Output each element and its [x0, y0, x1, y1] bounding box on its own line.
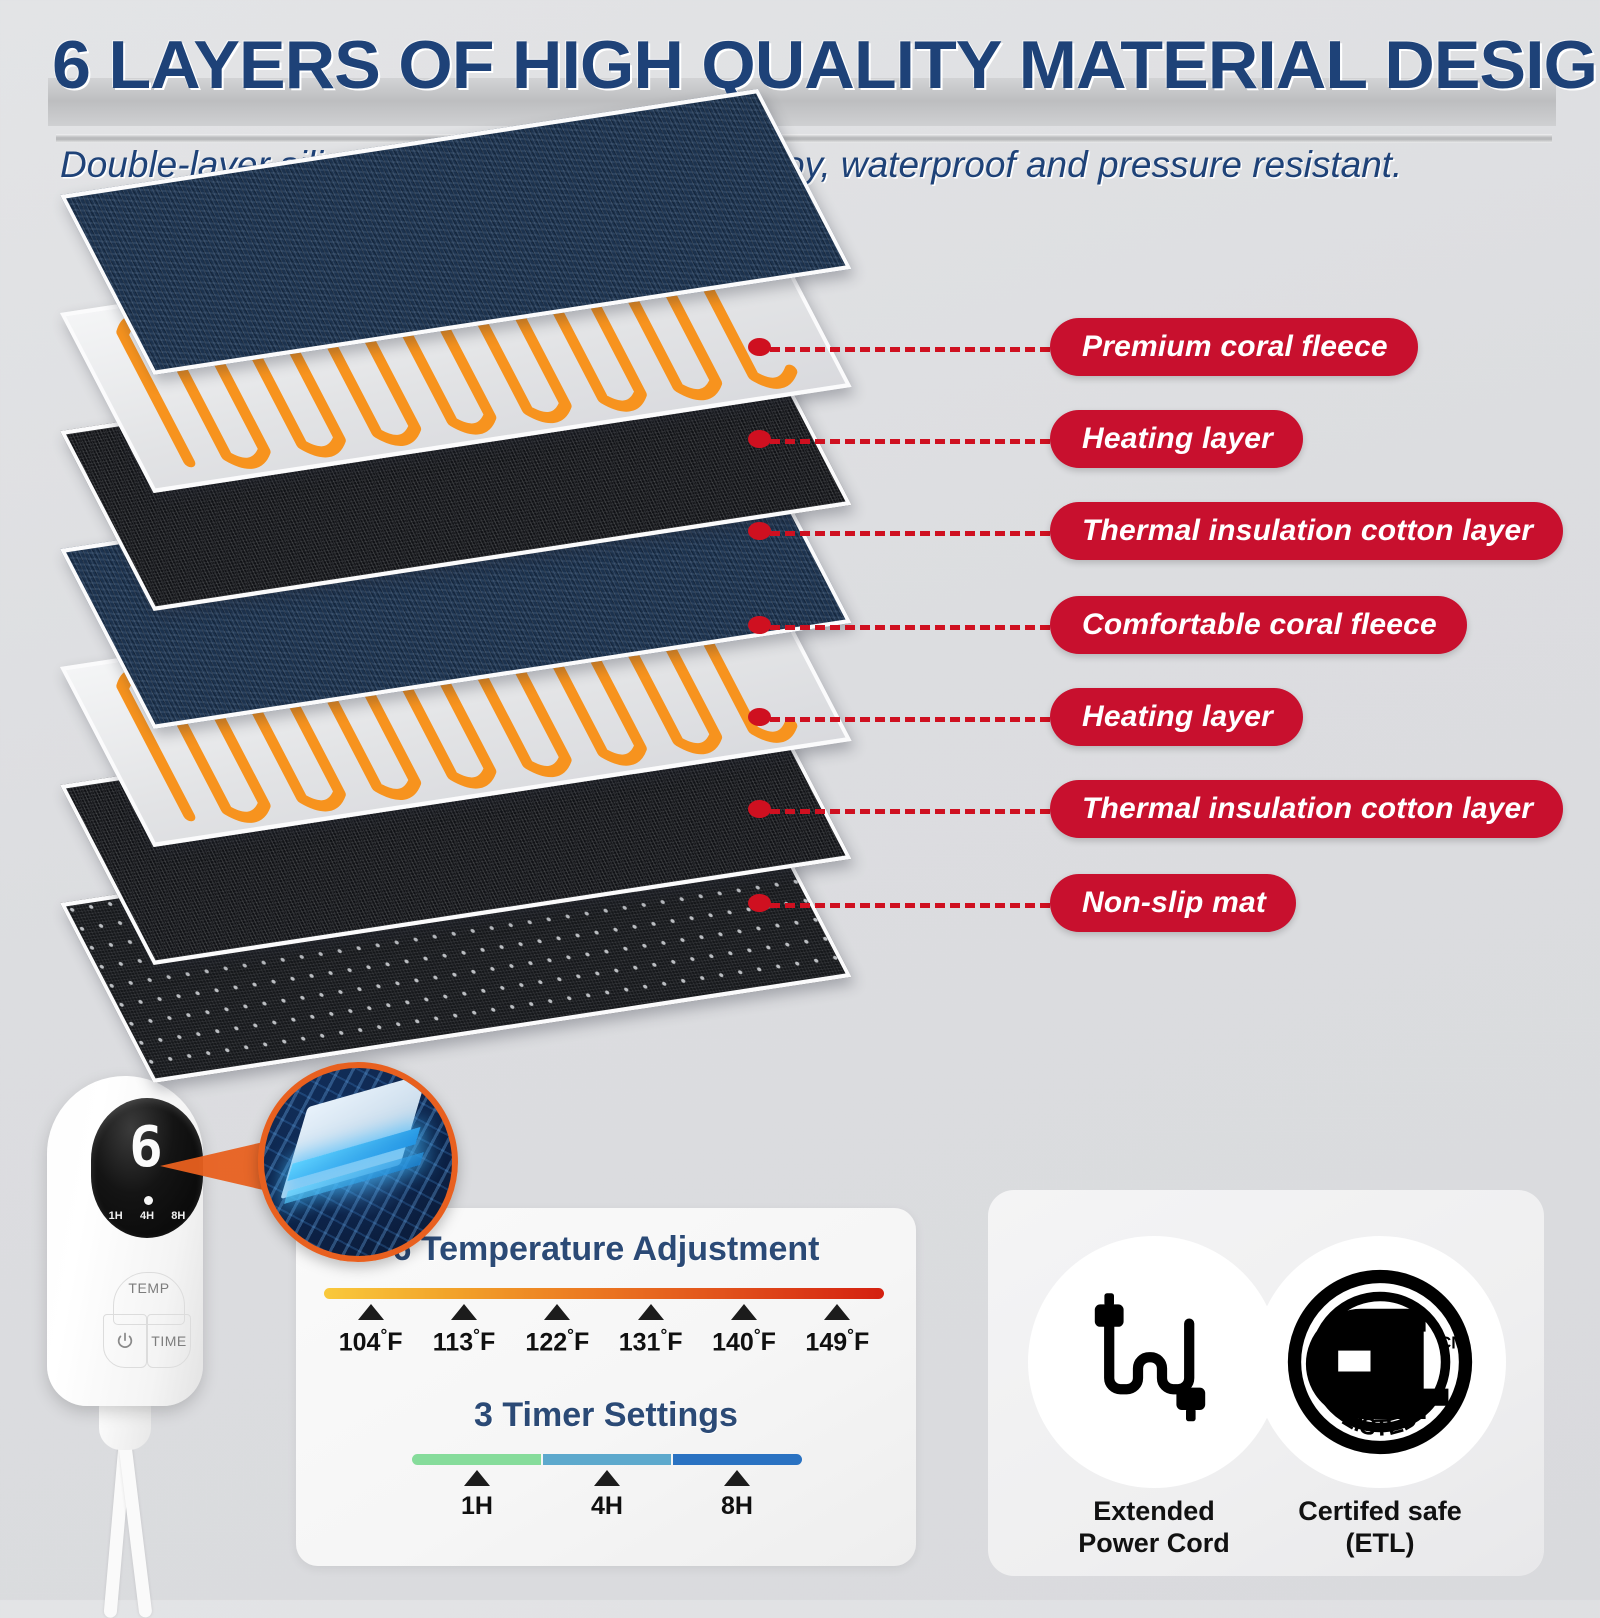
settings-panel: 6 Temperature Adjustment 104°F113°F122°F…	[296, 1208, 916, 1566]
power-cord-caption-line2: Power Cord	[1028, 1528, 1280, 1560]
temperature-number: 104	[339, 1328, 381, 1356]
layer-label-1[interactable]: Premium coral fleece	[1050, 318, 1418, 376]
power-icon	[115, 1331, 135, 1351]
timer-segment-3	[673, 1454, 802, 1465]
temperature-value-3: 122°F	[525, 1326, 589, 1357]
callout-leader-3	[770, 531, 1050, 536]
temperature-number: 140	[712, 1328, 754, 1356]
callout-leader-7	[770, 903, 1050, 908]
layer-label-text: Premium coral fleece	[1082, 330, 1388, 364]
power-cord-badge	[1028, 1236, 1280, 1488]
timer-segment-bar	[412, 1454, 802, 1465]
page-title: 6 LAYERS OF HIGH QUALITY MATERIAL DESIGN	[52, 26, 1600, 104]
callout-dot-1	[748, 338, 771, 356]
temperature-value-6: 149°F	[805, 1326, 869, 1357]
timer-tick-marker-2	[594, 1470, 620, 1486]
temperature-tick-marker-1	[358, 1304, 384, 1320]
layer-label-3[interactable]: Thermal insulation cotton layer	[1050, 502, 1563, 560]
temperature-value-5: 140°F	[712, 1326, 776, 1357]
temperature-unit: °F	[660, 1328, 682, 1356]
power-cord-icon	[1074, 1282, 1234, 1442]
temperature-tick-marker-5	[731, 1304, 757, 1320]
callout-dot-6	[748, 800, 771, 818]
etl-caption-line2: (ETL)	[1254, 1528, 1506, 1560]
etl-badge: CM LISTED	[1254, 1236, 1506, 1488]
layer-label-2[interactable]: Heating layer	[1050, 410, 1303, 468]
certification-panel: Extended Power Cord CM LISTED Certifed s…	[988, 1190, 1544, 1576]
timer-value-3: 8H	[721, 1492, 753, 1521]
timer-heading: 3 Timer Settings	[296, 1396, 916, 1435]
layer-label-5[interactable]: Heating layer	[1050, 688, 1303, 746]
layer-label-text: Non-slip mat	[1082, 886, 1266, 920]
callout-leader-1	[770, 347, 1050, 352]
power-cord-caption: Extended Power Cord	[1028, 1496, 1280, 1560]
temperature-number: 131	[619, 1328, 661, 1356]
temperature-unit: °F	[754, 1328, 776, 1356]
display-timer-1h: 1H	[109, 1210, 123, 1222]
etl-caption: Certifed safe (ETL)	[1254, 1496, 1506, 1560]
layer-label-text: Heating layer	[1082, 700, 1273, 734]
layer-label-4[interactable]: Comfortable coral fleece	[1050, 596, 1467, 654]
temperature-unit: °F	[567, 1328, 589, 1356]
timer-value-2: 4H	[591, 1492, 623, 1521]
temperature-unit: °F	[473, 1328, 495, 1356]
timer-segment-2	[543, 1454, 672, 1465]
temperature-value-1: 104°F	[339, 1326, 403, 1357]
power-button[interactable]	[103, 1314, 147, 1368]
temperature-tick-marker-3	[544, 1304, 570, 1320]
temperature-unit: °F	[847, 1328, 869, 1356]
callout-dot-3	[748, 522, 771, 540]
title-divider-rule	[56, 134, 1552, 143]
display-timer-8h: 8H	[171, 1210, 185, 1222]
temperature-value-4: 131°F	[619, 1326, 683, 1357]
timer-indicator-led	[144, 1196, 153, 1205]
zoom-pointer-arrow	[160, 1140, 272, 1192]
display-timer-labels: 1H 4H 8H	[91, 1210, 203, 1222]
timer-tick-marker-3	[724, 1470, 750, 1486]
callout-dot-5	[748, 708, 771, 726]
display-timer-4h: 4H	[140, 1210, 154, 1222]
layer-label-text: Comfortable coral fleece	[1082, 608, 1437, 642]
callout-dot-2	[748, 430, 771, 448]
layer-label-7[interactable]: Non-slip mat	[1050, 874, 1296, 932]
layer-label-6[interactable]: Thermal insulation cotton layer	[1050, 780, 1563, 838]
power-cord-caption-line1: Extended	[1028, 1496, 1280, 1528]
timer-tick-marker-1	[464, 1470, 490, 1486]
callout-leader-6	[770, 809, 1050, 814]
callout-leader-4	[770, 625, 1050, 630]
timer-value-1: 1H	[461, 1492, 493, 1521]
temperature-value-2: 113°F	[433, 1326, 495, 1357]
temperature-number: 149	[805, 1328, 847, 1356]
layer-label-text: Thermal insulation cotton layer	[1082, 514, 1533, 548]
etl-cm-superscript: CM	[1439, 1334, 1466, 1353]
temperature-number: 113	[433, 1328, 473, 1356]
temperature-tick-marker-4	[638, 1304, 664, 1320]
callout-dot-4	[748, 616, 771, 634]
layer-label-text: Thermal insulation cotton layer	[1082, 792, 1533, 826]
time-button[interactable]: TIME	[147, 1314, 191, 1368]
callout-leader-5	[770, 717, 1050, 722]
material-closeup-inset	[258, 1062, 458, 1262]
timer-segment-1	[412, 1454, 541, 1465]
layer-label-text: Heating layer	[1082, 422, 1273, 456]
callout-leader-2	[770, 439, 1050, 444]
temperature-tick-marker-6	[824, 1304, 850, 1320]
temperature-tick-marker-2	[451, 1304, 477, 1320]
temperature-number: 122	[525, 1328, 567, 1356]
callout-dot-7	[748, 894, 771, 912]
temperature-gradient-bar	[324, 1288, 884, 1299]
etl-listed-icon: CM LISTED	[1285, 1267, 1475, 1457]
remote-body: 6 1H 4H 8H TEMP TIME	[47, 1076, 203, 1406]
etl-caption-line1: Certifed safe	[1254, 1496, 1506, 1528]
temperature-unit: °F	[380, 1328, 402, 1356]
